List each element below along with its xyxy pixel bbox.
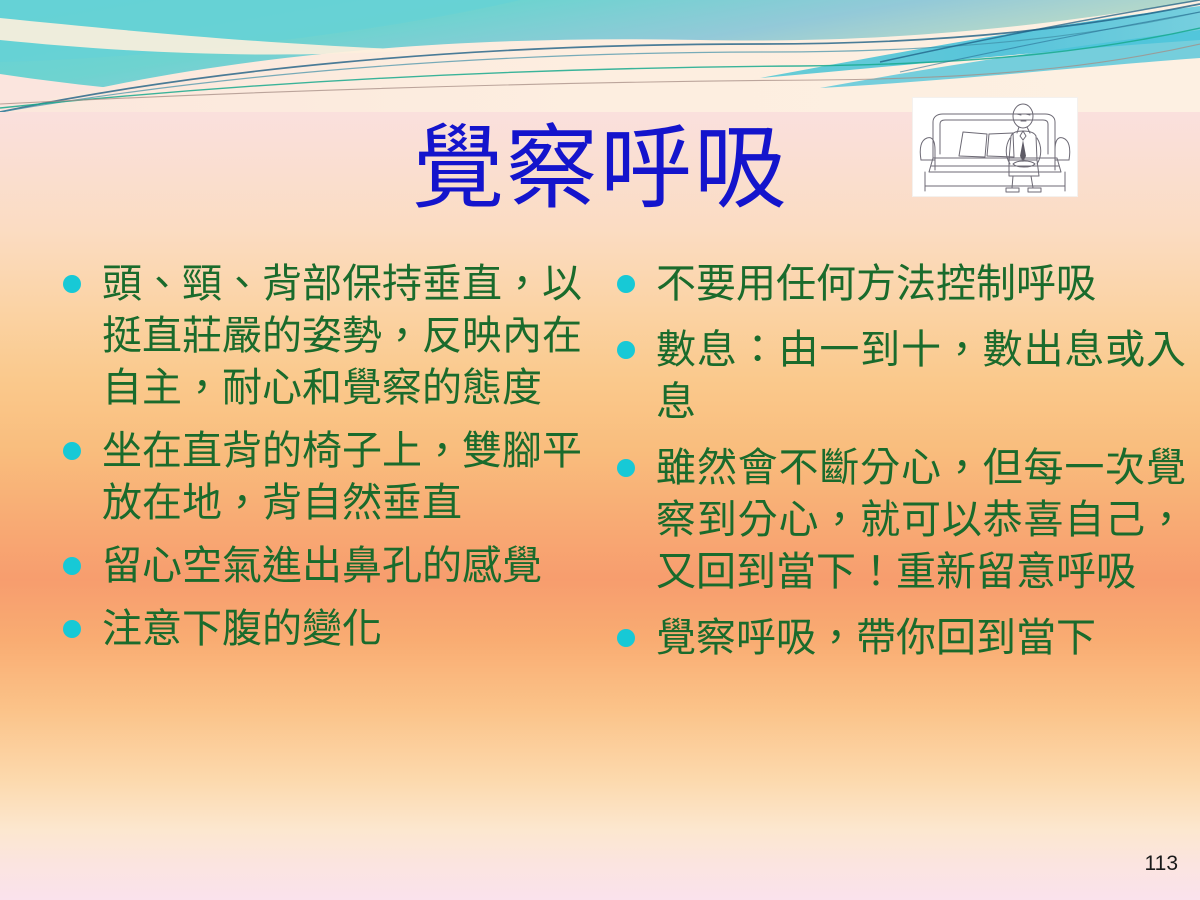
bullet-dot-icon: [63, 557, 81, 575]
bullet-dot-icon: [617, 341, 635, 359]
slide-body: 頭、頸、背部保持垂直，以挺直莊嚴的姿勢，反映內在自主，耐心和覺察的態度 坐在直背…: [0, 258, 1200, 838]
slide-canvas: 覺察呼吸: [0, 0, 1200, 900]
bullet-text: 覺察呼吸，帶你回到當下: [656, 615, 1096, 660]
bullet-dot-icon: [63, 275, 81, 293]
list-item: 覺察呼吸，帶你回到當下: [610, 612, 1186, 664]
left-bullet-list: 頭、頸、背部保持垂直，以挺直莊嚴的姿勢，反映內在自主，耐心和覺察的態度 坐在直背…: [56, 258, 582, 655]
list-item: 頭、頸、背部保持垂直，以挺直莊嚴的姿勢，反映內在自主，耐心和覺察的態度: [56, 258, 582, 414]
right-column: 不要用任何方法控制呼吸 數息：由一到十，數出息或入息 雖然會不斷分心，但每一次覺…: [600, 258, 1200, 678]
bullet-dot-icon: [63, 620, 81, 638]
list-item: 雖然會不斷分心，但每一次覺察到分心，就可以恭喜自己，又回到當下！重新留意呼吸: [610, 442, 1186, 598]
page-number: 113: [1145, 852, 1178, 876]
bullet-dot-icon: [617, 275, 635, 293]
list-item: 留心空氣進出鼻孔的感覺: [56, 540, 582, 592]
list-item: 坐在直背的椅子上，雙腳平放在地，背自然垂直: [56, 425, 582, 529]
sofa-meditation-thumbnail: [912, 97, 1078, 197]
decorative-wave-banner: [0, 0, 1200, 112]
list-item: 注意下腹的變化: [56, 603, 582, 655]
left-column: 頭、頸、背部保持垂直，以挺直莊嚴的姿勢，反映內在自主，耐心和覺察的態度 坐在直背…: [0, 258, 600, 666]
bullet-dot-icon: [617, 459, 635, 477]
list-item: 數息：由一到十，數出息或入息: [610, 324, 1186, 428]
bullet-text: 坐在直背的椅子上，雙腳平放在地，背自然垂直: [102, 428, 582, 525]
bullet-text: 不要用任何方法控制呼吸: [656, 261, 1096, 306]
bullet-text: 留心空氣進出鼻孔的感覺: [102, 543, 542, 588]
bullet-text: 頭、頸、背部保持垂直，以挺直莊嚴的姿勢，反映內在自主，耐心和覺察的態度: [102, 261, 582, 410]
list-item: 不要用任何方法控制呼吸: [610, 258, 1186, 310]
bullet-dot-icon: [617, 629, 635, 647]
bullet-text: 注意下腹的變化: [102, 606, 382, 651]
bullet-text: 數息：由一到十，數出息或入息: [656, 327, 1186, 424]
bullet-dot-icon: [63, 442, 81, 460]
bullet-text: 雖然會不斷分心，但每一次覺察到分心，就可以恭喜自己，又回到當下！重新留意呼吸: [656, 445, 1186, 594]
right-bullet-list: 不要用任何方法控制呼吸 數息：由一到十，數出息或入息 雖然會不斷分心，但每一次覺…: [610, 258, 1186, 664]
